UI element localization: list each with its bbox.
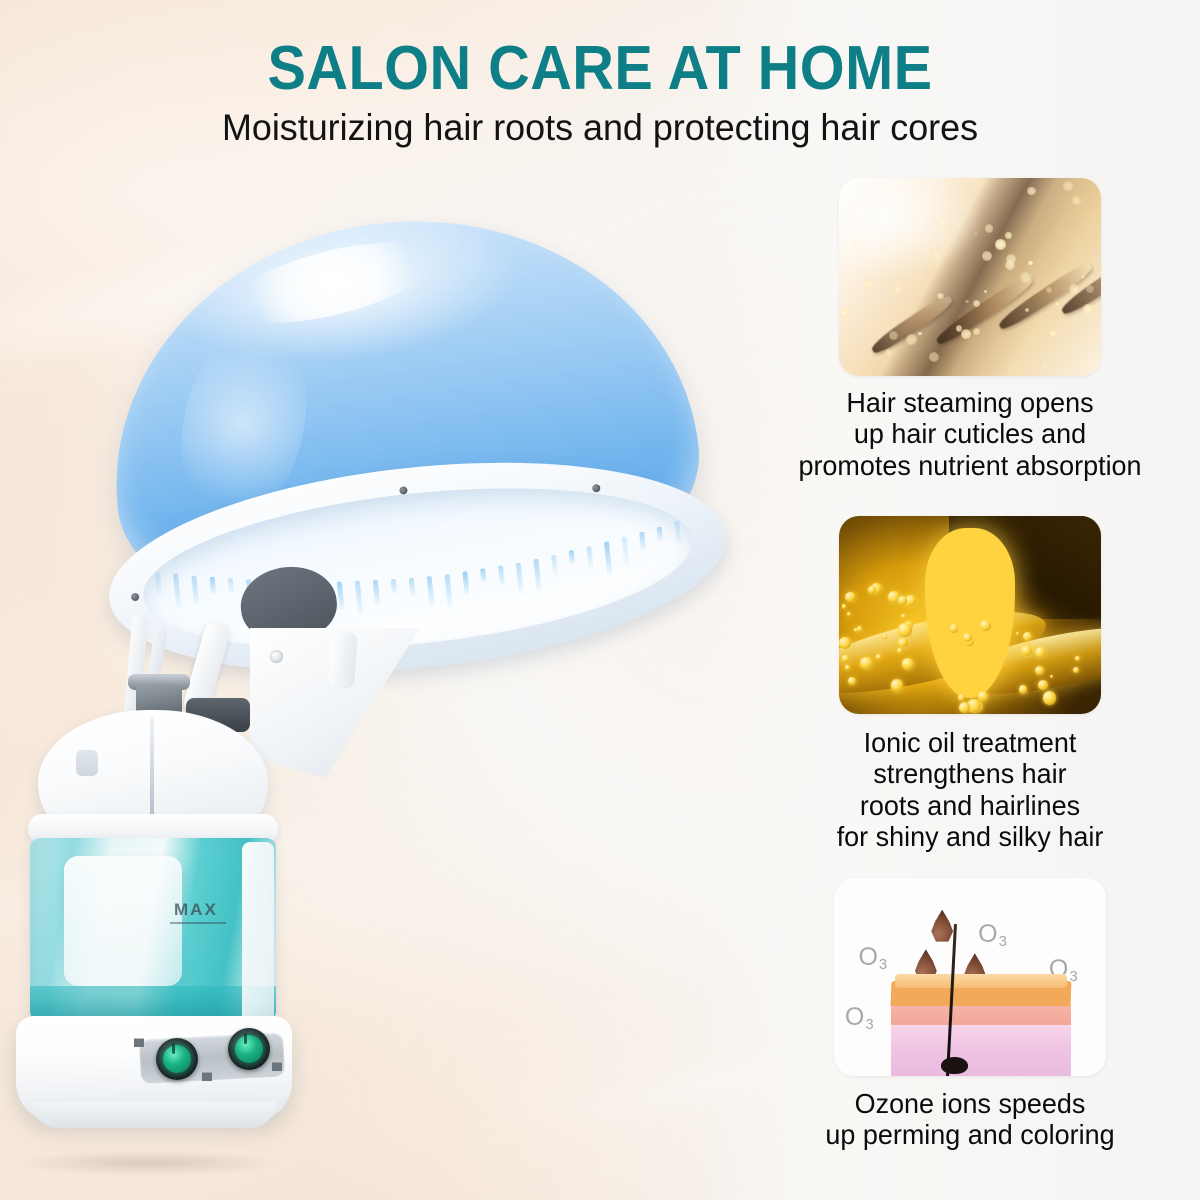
oil-bead (845, 665, 849, 669)
comb-fin (228, 578, 235, 594)
oil-bead (963, 633, 972, 642)
oil-bead (860, 657, 872, 669)
bracket-tab (328, 631, 358, 689)
comb-fin (569, 550, 575, 564)
thumb-glow (839, 178, 1101, 376)
oil-bead (1016, 632, 1019, 635)
oil-bead (978, 691, 989, 702)
dermis-layer (891, 1004, 1071, 1025)
ozone-molecule-label: O3 (978, 922, 1006, 947)
page-title: SALON CARE AT HOME (42, 38, 1158, 100)
product-marketing-banner: SALON CARE AT HOME Moisturizing hair roo… (0, 0, 1200, 1200)
oil-bead (898, 596, 907, 605)
oil-bead (868, 586, 876, 594)
bracket-screw (270, 650, 283, 663)
comb-fin (155, 572, 162, 596)
ozone-skin-cross-section-icon: O3 O3 O3 O3 (834, 878, 1106, 1076)
comb-fin (586, 546, 593, 568)
comb-fin (391, 579, 398, 594)
oil-bead (950, 624, 958, 632)
comb-fin (498, 566, 505, 586)
comb-fin (639, 531, 646, 550)
comb-fin (191, 575, 199, 605)
comb-fin (551, 555, 558, 576)
oil-bead (898, 623, 912, 637)
feature-caption: Ozone ions speeds up perming and colorin… (764, 1088, 1176, 1151)
oil-bead (883, 635, 887, 639)
lid-vent (76, 750, 98, 776)
comb-fin (622, 536, 630, 567)
page-subtitle: Moisturizing hair roots and protecting h… (18, 109, 1182, 148)
tank-side-panel (242, 842, 274, 1024)
caption-line: strengthens hair (764, 758, 1176, 789)
comb-fin (657, 526, 663, 541)
hair-cuticle-micrograph-icon (839, 178, 1101, 376)
switch-label-right: ██ (272, 1064, 282, 1071)
comb-fin (516, 562, 524, 594)
oil-bead (842, 604, 846, 608)
feature-caption: Hair steaming opens up hair cuticles and… (764, 387, 1176, 481)
oil-bead (854, 628, 858, 632)
rim-screw (131, 593, 140, 602)
oil-bead (842, 655, 848, 661)
product-ground-shadow (14, 1150, 284, 1176)
tank-max-label: MAX (174, 900, 218, 920)
product-illustration: MAX ██ ██ ██ (0, 150, 780, 1200)
caption-line: Ionic oil treatment (764, 727, 1176, 758)
oil-bead (897, 648, 902, 653)
oil-bead (1019, 685, 1027, 693)
ozone-ion-switch[interactable] (228, 1028, 270, 1070)
feature-hair-steaming: Hair steaming opens up hair cuticles and… (760, 178, 1180, 481)
steam-power-switch[interactable] (156, 1038, 198, 1080)
comb-fin (533, 559, 541, 592)
base-plinth: ██ ██ ██ (16, 1016, 292, 1122)
oil-bead (845, 592, 855, 602)
water-tank: MAX (30, 838, 276, 1028)
comb-fin (409, 578, 416, 596)
comb-fin (604, 541, 612, 574)
tank-max-line (170, 922, 226, 924)
feature-caption: Ionic oil treatment strengthens hair roo… (764, 727, 1176, 852)
caption-line: up hair cuticles and (764, 418, 1176, 449)
oil-bead (891, 679, 904, 692)
tank-inner-chamber (64, 856, 182, 986)
lid-seam (150, 716, 154, 820)
comb-fin (373, 580, 381, 605)
caption-line: for shiny and silky hair (764, 821, 1176, 852)
skin-cross-section (891, 981, 1071, 1076)
caption-line: up perming and coloring (764, 1119, 1176, 1150)
switch-label-left: ██ (134, 1040, 144, 1047)
comb-fin (444, 574, 452, 608)
oil-bead (898, 638, 907, 647)
comb-fin (674, 521, 681, 545)
ozone-molecule-label: O3 (858, 945, 886, 970)
caption-line: Hair steaming opens (764, 387, 1176, 418)
golden-hair-follicle-oil-icon (839, 516, 1101, 714)
oil-bead (1023, 632, 1032, 641)
oil-bead (958, 694, 965, 701)
comb-fin (209, 577, 216, 595)
feature-ionic-oil: Ionic oil treatment strengthens hair roo… (760, 516, 1180, 852)
oil-bead (1038, 680, 1048, 690)
comb-fin (480, 569, 486, 584)
feature-ozone-ions: O3 O3 O3 O3 Ozone ions speeds up perming… (760, 878, 1180, 1151)
headline-block: SALON CARE AT HOME Moisturizing hair roo… (0, 38, 1200, 148)
oil-bead (848, 677, 856, 685)
base-foot (32, 1102, 276, 1128)
comb-fin (462, 571, 469, 594)
oil-droplet (929, 910, 955, 944)
caption-line: promotes nutrient absorption (764, 450, 1176, 481)
caption-line: Ozone ions speeds (764, 1088, 1176, 1119)
oil-bead (901, 614, 905, 618)
hair-root-bulb (941, 1057, 968, 1074)
comb-fin (355, 581, 364, 615)
subcutaneous-layer (891, 1023, 1071, 1076)
ozone-molecule-label: O3 (845, 1005, 873, 1030)
switch-label-mid: ██ (202, 1074, 212, 1081)
comb-fin (427, 576, 435, 606)
oil-bead (1043, 691, 1057, 705)
oil-bead (959, 702, 970, 713)
oil-bead (980, 620, 991, 631)
comb-fin (173, 574, 181, 608)
caption-line: roots and hairlines (764, 790, 1176, 821)
skin-surface (895, 974, 1067, 987)
oil-bead (847, 612, 851, 616)
steamer-base-unit: MAX ██ ██ ██ (10, 710, 300, 1140)
base-lid (38, 710, 268, 828)
oil-bead (839, 637, 851, 649)
comb-fin (337, 581, 345, 610)
